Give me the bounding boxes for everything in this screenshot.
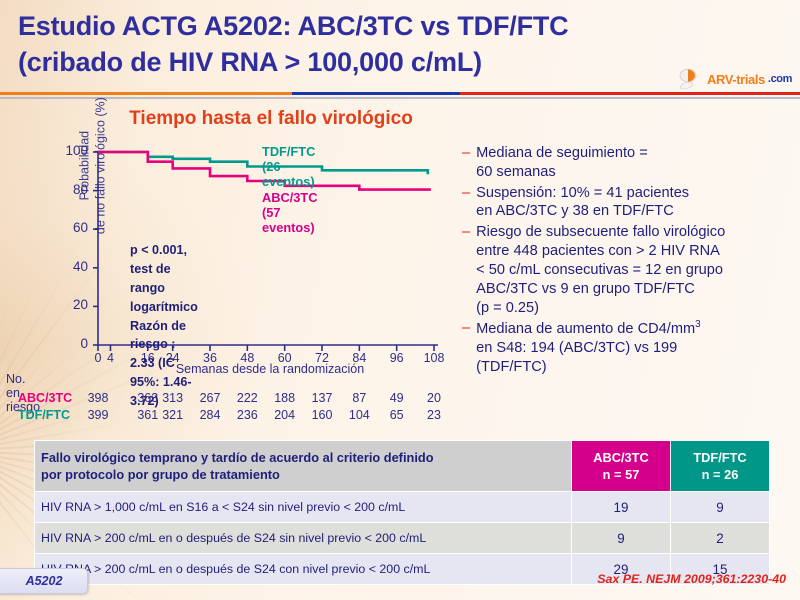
y-tick-label: 80 — [54, 182, 88, 197]
x-tick-label: 48 — [232, 351, 262, 365]
risk-row-abc: ABC/3TC 398363313267222188137874920 — [0, 391, 460, 407]
risk-value: 104 — [344, 408, 374, 422]
table-row: HIV RNA > 1,000 c/mL en S16 a < S24 sin … — [35, 492, 770, 523]
list-item: – Mediana de seguimiento = 60 semanas — [462, 144, 794, 182]
bullet-dash-icon: – — [462, 144, 470, 182]
bullet-dash-icon: – — [462, 223, 470, 317]
table-header-row: Fallo virológico temprano y tardío de ac… — [35, 441, 770, 492]
risk-value: 236 — [232, 408, 262, 422]
capsule-icon — [678, 67, 704, 91]
cd4-prefix: Mediana de aumento de CD4/mm — [476, 321, 695, 337]
y-tick-label: 0 — [54, 336, 88, 351]
list-item-text: Suspensión: 10% = 41 pacientes en ABC/3T… — [476, 184, 689, 222]
table-header: Fallo virológico temprano y tardío de ac… — [35, 441, 770, 492]
study-badge[interactable]: A5202 — [0, 568, 88, 594]
risk-value: 23 — [419, 408, 449, 422]
list-item-text: Mediana de seguimiento = 60 semanas — [476, 144, 648, 182]
bullet-dash-icon: – — [462, 319, 470, 376]
risk-row-label: TDF/FTC — [18, 408, 70, 422]
x-tick-label: 36 — [195, 351, 225, 365]
slide: Estudio ACTG A5202: ABC/3TC vs TDF/FTC (… — [0, 0, 800, 600]
arv-trials-logo[interactable]: ARV-trials .com — [678, 64, 792, 94]
x-tick-label: 72 — [307, 351, 337, 365]
risk-value: 49 — [382, 391, 412, 405]
risk-value: 137 — [307, 391, 337, 405]
pvalue-text: p < 0.001, test de rango logarítmico — [130, 241, 198, 317]
risk-value: 313 — [158, 391, 188, 405]
risk-row-tdf: TDF/FTC 3993613212842362041601046523 — [0, 408, 460, 424]
risk-row-label: ABC/3TC — [18, 391, 72, 405]
table-cell-criterion: HIV RNA > 1,000 c/mL en S16 a < S24 sin … — [35, 492, 572, 523]
y-tick-label: 100 — [54, 143, 88, 158]
cd4-rest: en S48: 194 (ABC/3TC) vs 199 (TDF/FTC) — [476, 340, 677, 375]
risk-value: 222 — [232, 391, 262, 405]
curve-label-tdf: TDF/FTC (26 eventos) — [262, 144, 315, 189]
table-body: HIV RNA > 1,000 c/mL en S16 a < S24 sin … — [35, 492, 770, 585]
risk-value: 284 — [195, 408, 225, 422]
y-tick-label: 20 — [54, 297, 88, 312]
table-cell-tdf: 2 — [671, 523, 770, 554]
findings-list: – Mediana de seguimiento = 60 semanas – … — [462, 144, 794, 379]
risk-value: 20 — [419, 391, 449, 405]
bullet-dash-icon: – — [462, 184, 470, 222]
risk-value: 321 — [158, 408, 188, 422]
table-header-abc: ABC/3TC n = 57 — [572, 441, 671, 492]
risk-value: 399 — [83, 408, 113, 422]
table-header-tdf: TDF/FTC n = 26 — [671, 441, 770, 492]
table-cell-tdf: 9 — [671, 492, 770, 523]
risk-value: 267 — [195, 391, 225, 405]
x-tick-label: 60 — [270, 351, 300, 365]
risk-value: 204 — [270, 408, 300, 422]
x-tick-label: 84 — [344, 351, 374, 365]
virologic-failure-table: Fallo virológico temprano y tardío de ac… — [34, 440, 770, 585]
risk-value: 160 — [307, 408, 337, 422]
table-cell-abc: 19 — [572, 492, 671, 523]
risk-value: 65 — [382, 408, 412, 422]
logo-suffix: .com — [768, 73, 792, 85]
page-title: Estudio ACTG A5202: ABC/3TC vs TDF/FTC (… — [18, 8, 718, 80]
y-tick-label: 40 — [54, 259, 88, 274]
table-cell-criterion: HIV RNA > 200 c/mL en o después de S24 c… — [35, 554, 572, 585]
list-item-cd4: – Mediana de aumento de CD4/mm3 en S48: … — [462, 319, 794, 376]
table-header-description: Fallo virológico temprano y tardío de ac… — [35, 441, 572, 492]
risk-value: 87 — [344, 391, 374, 405]
x-tick-label: 4 — [95, 351, 125, 365]
title-block: Estudio ACTG A5202: ABC/3TC vs TDF/FTC (… — [18, 8, 718, 80]
table-cell-abc: 9 — [572, 523, 671, 554]
risk-value: 188 — [270, 391, 300, 405]
chart-title: Tiempo hasta el fallo virológico — [96, 108, 446, 130]
x-tick-label: 96 — [382, 351, 412, 365]
chart-statistics: p < 0.001, test de rango logarítmico Raz… — [130, 241, 198, 411]
y-tick-label: 60 — [54, 220, 88, 235]
citation: Sax PE. NEJM 2009;361:2230-40 — [597, 572, 786, 586]
list-item: – Suspensión: 10% = 41 pacientes en ABC/… — [462, 184, 794, 222]
cd4-superscript: 3 — [695, 319, 701, 330]
list-item-text-cd4: Mediana de aumento de CD4/mm3 en S48: 19… — [476, 319, 701, 376]
curve-label-abc: ABC/3TC (57 eventos) — [262, 190, 317, 235]
list-item-text: Riesgo de subsecuente fallo virológico e… — [476, 223, 725, 317]
table-cell-criterion: HIV RNA > 200 c/mL en o después de S24 s… — [35, 523, 572, 554]
table-row: HIV RNA > 200 c/mL en o después de S24 s… — [35, 523, 770, 554]
logo-name: ARV-trials — [707, 72, 765, 87]
header-divider-secondary — [0, 97, 800, 99]
risk-value: 398 — [83, 391, 113, 405]
list-item: – Riesgo de subsecuente fallo virológico… — [462, 223, 794, 317]
x-tick-label: 108 — [419, 351, 449, 365]
